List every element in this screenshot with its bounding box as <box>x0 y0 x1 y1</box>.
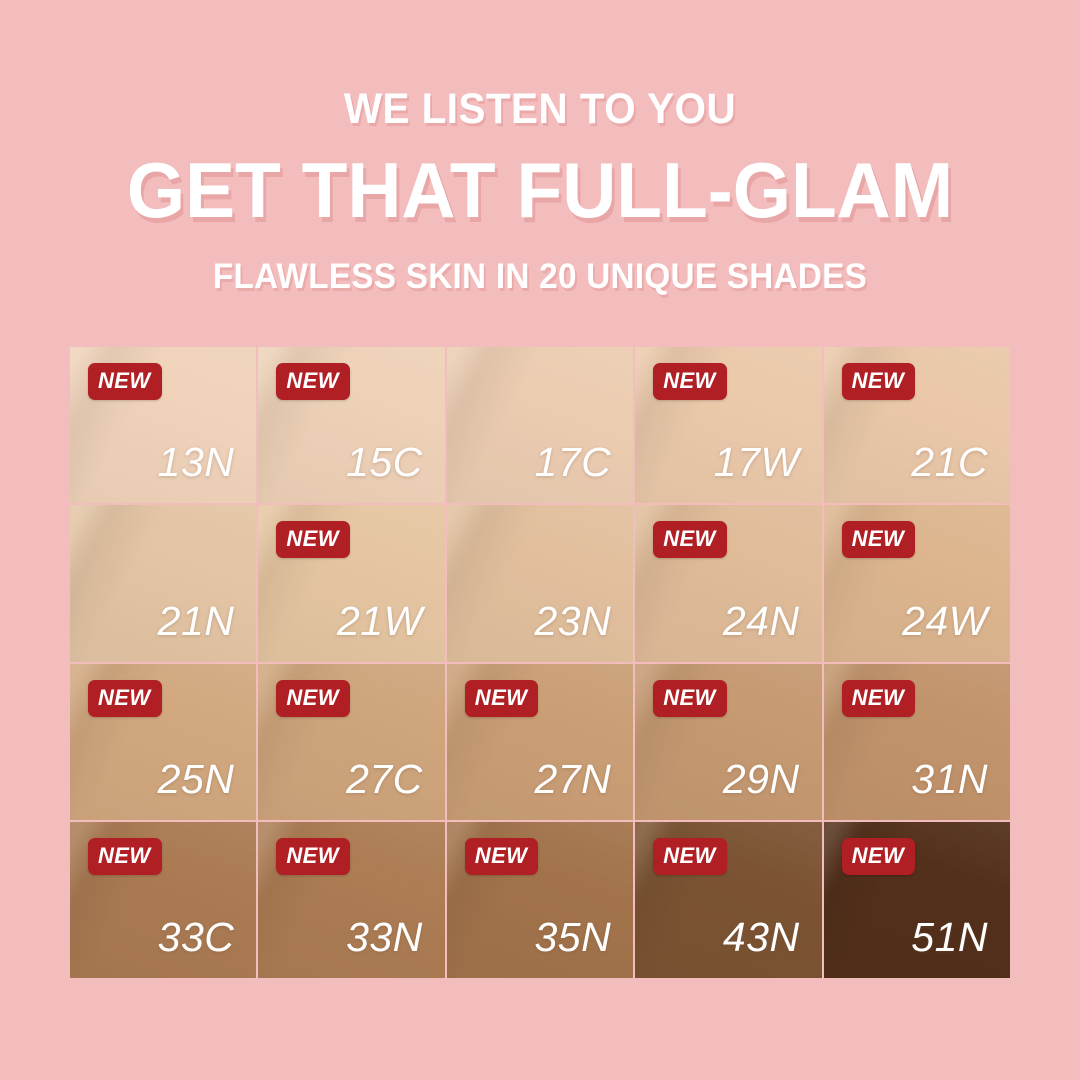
shade-swatch-51n[interactable]: NEW51N <box>824 822 1010 978</box>
shade-swatch-17w[interactable]: NEW17W <box>635 347 821 503</box>
shade-swatch-24n[interactable]: NEW24N <box>635 505 821 661</box>
shade-label: 43N <box>723 917 800 958</box>
new-badge: NEW <box>88 363 162 400</box>
new-badge: NEW <box>842 680 916 717</box>
shade-label: 13N <box>158 442 235 483</box>
page-title: GET THAT FULL-GLAM <box>22 151 1059 229</box>
new-badge: NEW <box>842 363 916 400</box>
shade-swatch-21n[interactable]: NEW21N <box>70 505 256 661</box>
new-badge: NEW <box>653 521 727 558</box>
shade-swatch-21c[interactable]: NEW21C <box>824 347 1010 503</box>
shade-label: 21W <box>337 601 423 642</box>
shade-swatch-31n[interactable]: NEW31N <box>824 664 1010 820</box>
shade-label: 27N <box>534 759 611 800</box>
shade-label: 27C <box>346 759 423 800</box>
shade-swatch-13n[interactable]: NEW13N <box>70 347 256 503</box>
new-badge: NEW <box>276 838 350 875</box>
new-badge: NEW <box>842 838 916 875</box>
shade-swatch-25n[interactable]: NEW25N <box>70 664 256 820</box>
shade-swatch-29n[interactable]: NEW29N <box>635 664 821 820</box>
new-badge: NEW <box>276 680 350 717</box>
new-badge: NEW <box>653 838 727 875</box>
shade-label: 24W <box>902 601 988 642</box>
shade-label: 31N <box>911 759 988 800</box>
shade-label: 17W <box>714 442 800 483</box>
shade-label: 15C <box>346 442 423 483</box>
shade-swatch-24w[interactable]: NEW24W <box>824 505 1010 661</box>
shade-label: 21N <box>158 601 235 642</box>
subtitle-text: FLAWLESS SKIN IN 20 UNIQUE SHADES <box>27 259 1053 294</box>
shade-swatch-43n[interactable]: NEW43N <box>635 822 821 978</box>
shade-label: 21C <box>911 442 988 483</box>
new-badge: NEW <box>653 680 727 717</box>
shade-label: 23N <box>534 601 611 642</box>
eyebrow-text: WE LISTEN TO YOU <box>32 88 1047 131</box>
shade-swatch-21w[interactable]: NEW21W <box>258 505 444 661</box>
shade-label: 51N <box>911 917 988 958</box>
promo-header: WE LISTEN TO YOU GET THAT FULL-GLAM FLAW… <box>0 0 1080 294</box>
shade-label: 33C <box>158 917 235 958</box>
shade-label: 17C <box>534 442 611 483</box>
new-badge: NEW <box>465 680 539 717</box>
shade-swatch-27c[interactable]: NEW27C <box>258 664 444 820</box>
new-badge: NEW <box>842 521 916 558</box>
shade-label: 25N <box>158 759 235 800</box>
shade-label: 35N <box>534 917 611 958</box>
shade-swatch-23n[interactable]: NEW23N <box>447 505 633 661</box>
shade-swatch-33c[interactable]: NEW33C <box>70 822 256 978</box>
shade-swatch-35n[interactable]: NEW35N <box>447 822 633 978</box>
new-badge: NEW <box>276 363 350 400</box>
new-badge: NEW <box>88 838 162 875</box>
shade-swatch-17c[interactable]: NEW17C <box>447 347 633 503</box>
new-badge: NEW <box>465 838 539 875</box>
shade-label: 29N <box>723 759 800 800</box>
shade-swatch-grid: NEW13NNEW15CNEW17CNEW17WNEW21CNEW21NNEW2… <box>70 347 1010 978</box>
new-badge: NEW <box>276 521 350 558</box>
shade-label: 24N <box>723 601 800 642</box>
shade-swatch-33n[interactable]: NEW33N <box>258 822 444 978</box>
shade-swatch-15c[interactable]: NEW15C <box>258 347 444 503</box>
new-badge: NEW <box>653 363 727 400</box>
shade-label: 33N <box>346 917 423 958</box>
shade-swatch-27n[interactable]: NEW27N <box>447 664 633 820</box>
new-badge: NEW <box>88 680 162 717</box>
